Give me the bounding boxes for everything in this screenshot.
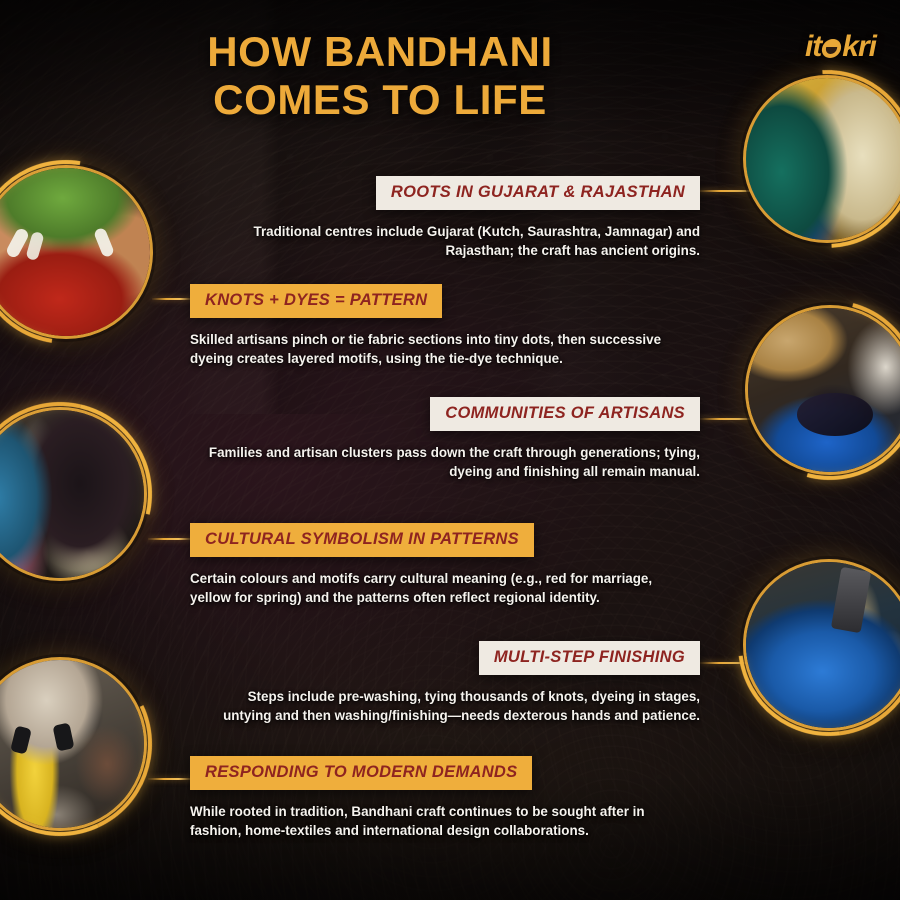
logo-o-icon (821, 39, 843, 58)
body-roots: Traditional centres include Gujarat (Kut… (238, 222, 700, 260)
block-modern: RESPONDING TO MODERN DEMANDS While roote… (190, 756, 690, 840)
block-communities: COMMUNITIES OF ARTISANS Families and art… (206, 397, 700, 481)
photo-hands-tying-red-image (0, 168, 150, 336)
photo-hands-tying-red (0, 168, 150, 336)
bandhani-infographic: HOW BANDHANI COMES TO LIFE itkri (0, 0, 900, 900)
photo-indigo-vat-image (746, 562, 900, 728)
heading-modern: RESPONDING TO MODERN DEMANDS (190, 756, 532, 790)
heading-knots: KNOTS + DYES = PATTERN (190, 284, 442, 318)
connector-modern (148, 778, 192, 780)
body-symbolism: Certain colours and motifs carry cultura… (190, 569, 690, 607)
connector-symbolism (148, 538, 192, 540)
photo-indigo-vat (746, 562, 900, 728)
photo-women-tying-image (746, 78, 900, 240)
connector-knots (152, 298, 192, 300)
photo-dyer-blue-vat (748, 308, 900, 472)
heading-symbolism: CULTURAL SYMBOLISM IN PATTERNS (190, 523, 534, 557)
title-line-2: COMES TO LIFE (0, 76, 760, 124)
title-line-1: HOW BANDHANI (0, 28, 760, 76)
photo-dyer-yellow-cloth (0, 660, 144, 828)
logo-text-pre: it (805, 30, 821, 63)
heading-finishing: MULTI-STEP FINISHING (479, 641, 700, 675)
block-finishing: MULTI-STEP FINISHING Steps include pre-w… (206, 641, 700, 725)
body-finishing: Steps include pre-washing, tying thousan… (206, 687, 700, 725)
photo-women-untying-image (0, 410, 144, 578)
body-knots: Skilled artisans pinch or tie fabric sec… (190, 330, 690, 368)
logo-text-post: kri (842, 30, 876, 63)
block-symbolism: CULTURAL SYMBOLISM IN PATTERNS Certain c… (190, 523, 690, 607)
block-knots: KNOTS + DYES = PATTERN Skilled artisans … (190, 284, 690, 368)
brand-logo[interactable]: itkri (805, 30, 876, 64)
body-communities: Families and artisan clusters pass down … (206, 443, 700, 481)
photo-women-untying (0, 410, 144, 578)
heading-communities: COMMUNITIES OF ARTISANS (430, 397, 700, 431)
block-roots: ROOTS IN GUJARAT & RAJASTHAN Traditional… (238, 176, 700, 260)
photo-dyer-blue-vat-image (748, 308, 900, 472)
heading-roots: ROOTS IN GUJARAT & RAJASTHAN (376, 176, 700, 210)
photo-women-tying (746, 78, 900, 240)
page-title: HOW BANDHANI COMES TO LIFE (0, 28, 760, 124)
body-modern: While rooted in tradition, Bandhani craf… (190, 802, 690, 840)
